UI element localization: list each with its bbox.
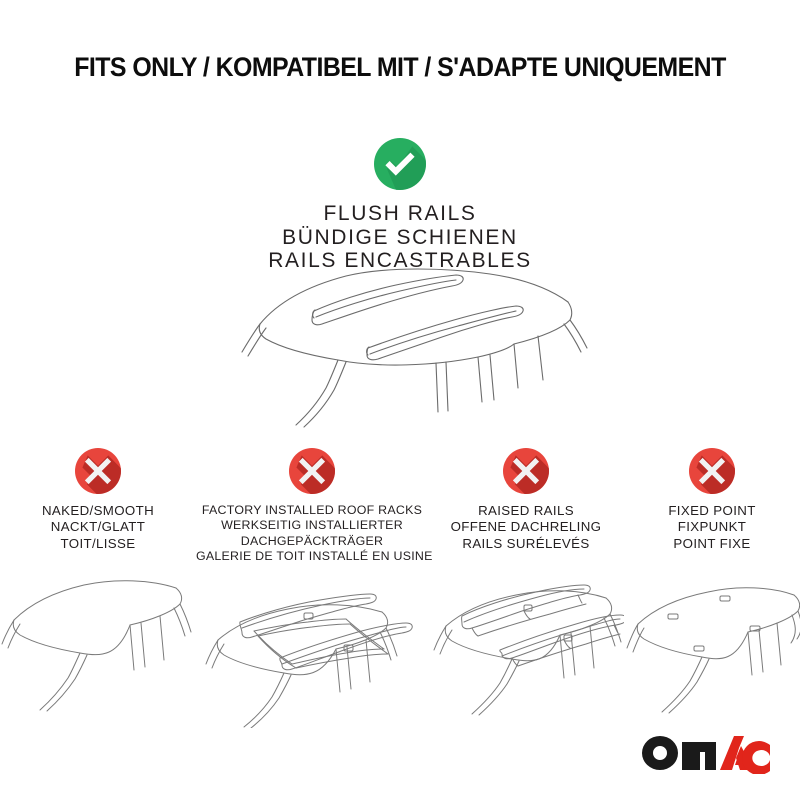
cross-circle-icon bbox=[503, 448, 549, 494]
incompatible-labels: NAKED/SMOOTH NACKT/GLATT TOIT/LISSE bbox=[0, 503, 196, 552]
car-roof-naked-smooth-illustration bbox=[0, 566, 196, 716]
incompatible-item-naked-smooth: NAKED/SMOOTH NACKT/GLATT TOIT/LISSE bbox=[0, 448, 196, 716]
incompatible-label-de: OFFENE DACHRELING bbox=[428, 519, 624, 535]
incompatible-label-de-1: WERKSEITIG INSTALLIERTER bbox=[196, 518, 428, 533]
incompatible-labels: RAISED RAILS OFFENE DACHRELING RAILS SUR… bbox=[428, 503, 624, 552]
compatibility-infographic: FITS ONLY / KOMPATIBEL MIT / S'ADAPTE UN… bbox=[0, 0, 800, 800]
cross-circle-icon bbox=[689, 448, 735, 494]
incompatible-label-de: FIXPUNKT bbox=[624, 519, 800, 535]
check-circle-icon bbox=[374, 138, 426, 190]
compatible-label-en: FLUSH RAILS bbox=[0, 202, 800, 226]
car-roof-fixed-point-illustration bbox=[624, 566, 800, 716]
incompatible-label-de: NACKT/GLATT bbox=[0, 519, 196, 535]
incompatible-labels: FACTORY INSTALLED ROOF RACKS WERKSEITIG … bbox=[196, 503, 428, 564]
incompatible-label-fr: RAILS SURÉLEVÉS bbox=[428, 536, 624, 552]
incompatible-label-en: FACTORY INSTALLED ROOF RACKS bbox=[196, 503, 428, 518]
incompatible-item-fixed-point: FIXED POINT FIXPUNKT POINT FIXE bbox=[624, 448, 800, 716]
incompatible-label-en: RAISED RAILS bbox=[428, 503, 624, 519]
incompatible-label-en: FIXED POINT bbox=[624, 503, 800, 519]
compatible-section: FLUSH RAILS BÜNDIGE SCHIENEN RAILS ENCAS… bbox=[0, 138, 800, 273]
incompatible-label-fr: TOIT/LISSE bbox=[0, 536, 196, 552]
incompatible-section: NAKED/SMOOTH NACKT/GLATT TOIT/LISSE bbox=[0, 448, 800, 728]
car-roof-flush-rails-illustration bbox=[238, 262, 588, 432]
incompatible-label-fr: POINT FIXE bbox=[624, 536, 800, 552]
incompatible-label-fr: GALERIE DE TOIT INSTALLÉ EN USINE bbox=[196, 549, 428, 564]
page-title: FITS ONLY / KOMPATIBEL MIT / S'ADAPTE UN… bbox=[24, 52, 776, 83]
incompatible-label-en: NAKED/SMOOTH bbox=[0, 503, 196, 519]
incompatible-item-raised-rails: RAISED RAILS OFFENE DACHRELING RAILS SUR… bbox=[428, 448, 624, 716]
incompatible-item-factory-rack: FACTORY INSTALLED ROOF RACKS WERKSEITIG … bbox=[196, 448, 428, 728]
omac-logo bbox=[642, 732, 772, 774]
incompatible-labels: FIXED POINT FIXPUNKT POINT FIXE bbox=[624, 503, 800, 552]
incompatible-label-de-2: DACHGEPÄCKTRÄGER bbox=[196, 534, 428, 549]
car-roof-raised-rails-illustration bbox=[428, 566, 624, 716]
cross-circle-icon bbox=[75, 448, 121, 494]
car-roof-factory-rack-illustration bbox=[196, 578, 428, 728]
cross-circle-icon bbox=[289, 448, 335, 494]
compatible-label-de: BÜNDIGE SCHIENEN bbox=[0, 226, 800, 250]
